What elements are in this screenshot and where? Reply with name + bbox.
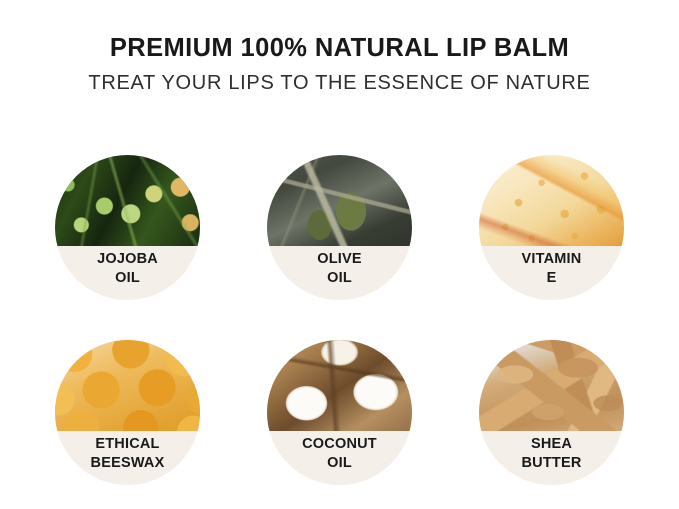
honeycomb-photo <box>55 340 200 431</box>
olive-branch-photo <box>267 155 412 246</box>
ingredient-label-line1: ETHICAL <box>95 435 159 454</box>
ingredient-label-line1: SHEA <box>531 435 572 454</box>
ingredient-label-line2: OIL <box>327 454 352 473</box>
shea-butter-chunks-photo <box>479 340 624 431</box>
ingredient-badge-vitamin-e: VITAMIN E <box>479 155 624 300</box>
ingredient-label-line2: OIL <box>115 269 140 288</box>
ingredient-label-line1: COCONUT <box>302 435 377 454</box>
ingredient-label-line2: OIL <box>327 269 352 288</box>
ingredient-label-line1: VITAMIN <box>522 250 582 269</box>
ingredient-label-line1: OLIVE <box>317 250 362 269</box>
coconut-halves-photo <box>267 340 412 431</box>
ingredient-label-shea-butter: SHEA BUTTER <box>479 431 624 485</box>
ingredient-label-coconut-oil: COCONUT OIL <box>267 431 412 485</box>
ingredient-label-olive-oil: OLIVE OIL <box>267 246 412 300</box>
ingredient-label-ethical-beeswax: ETHICAL BEESWAX <box>55 431 200 485</box>
vitamin-e-texture-photo <box>479 155 624 246</box>
coconut-artwork <box>267 340 412 431</box>
ingredient-label-line2: BEESWAX <box>91 454 165 473</box>
ingredient-grid: JOJOBA OIL OLIVE OIL VITAMIN E ETHICAL B… <box>55 155 625 485</box>
ingredient-badge-coconut-oil: COCONUT OIL <box>267 340 412 485</box>
ingredient-label-line2: E <box>547 269 557 288</box>
ingredient-label-vitamin-e: VITAMIN E <box>479 246 624 300</box>
ingredient-badge-shea-butter: SHEA BUTTER <box>479 340 624 485</box>
ingredient-label-jojoba-oil: JOJOBA OIL <box>55 246 200 300</box>
page-subtitle: TREAT YOUR LIPS TO THE ESSENCE OF NATURE <box>0 72 679 95</box>
vitamin-e-artwork <box>479 155 624 246</box>
ingredient-badge-jojoba-oil: JOJOBA OIL <box>55 155 200 300</box>
ingredient-badge-ethical-beeswax: ETHICAL BEESWAX <box>55 340 200 485</box>
shea-butter-artwork <box>479 340 624 431</box>
ingredient-label-line1: JOJOBA <box>97 250 158 269</box>
jojoba-artwork <box>55 155 200 246</box>
jojoba-plant-photo <box>55 155 200 246</box>
ingredient-label-line2: BUTTER <box>521 454 581 473</box>
olive-artwork <box>267 155 412 246</box>
header: PREMIUM 100% NATURAL LIP BALM TREAT YOUR… <box>0 34 679 95</box>
beeswax-artwork <box>55 340 200 431</box>
page-title: PREMIUM 100% NATURAL LIP BALM <box>0 34 679 63</box>
ingredient-badge-olive-oil: OLIVE OIL <box>267 155 412 300</box>
